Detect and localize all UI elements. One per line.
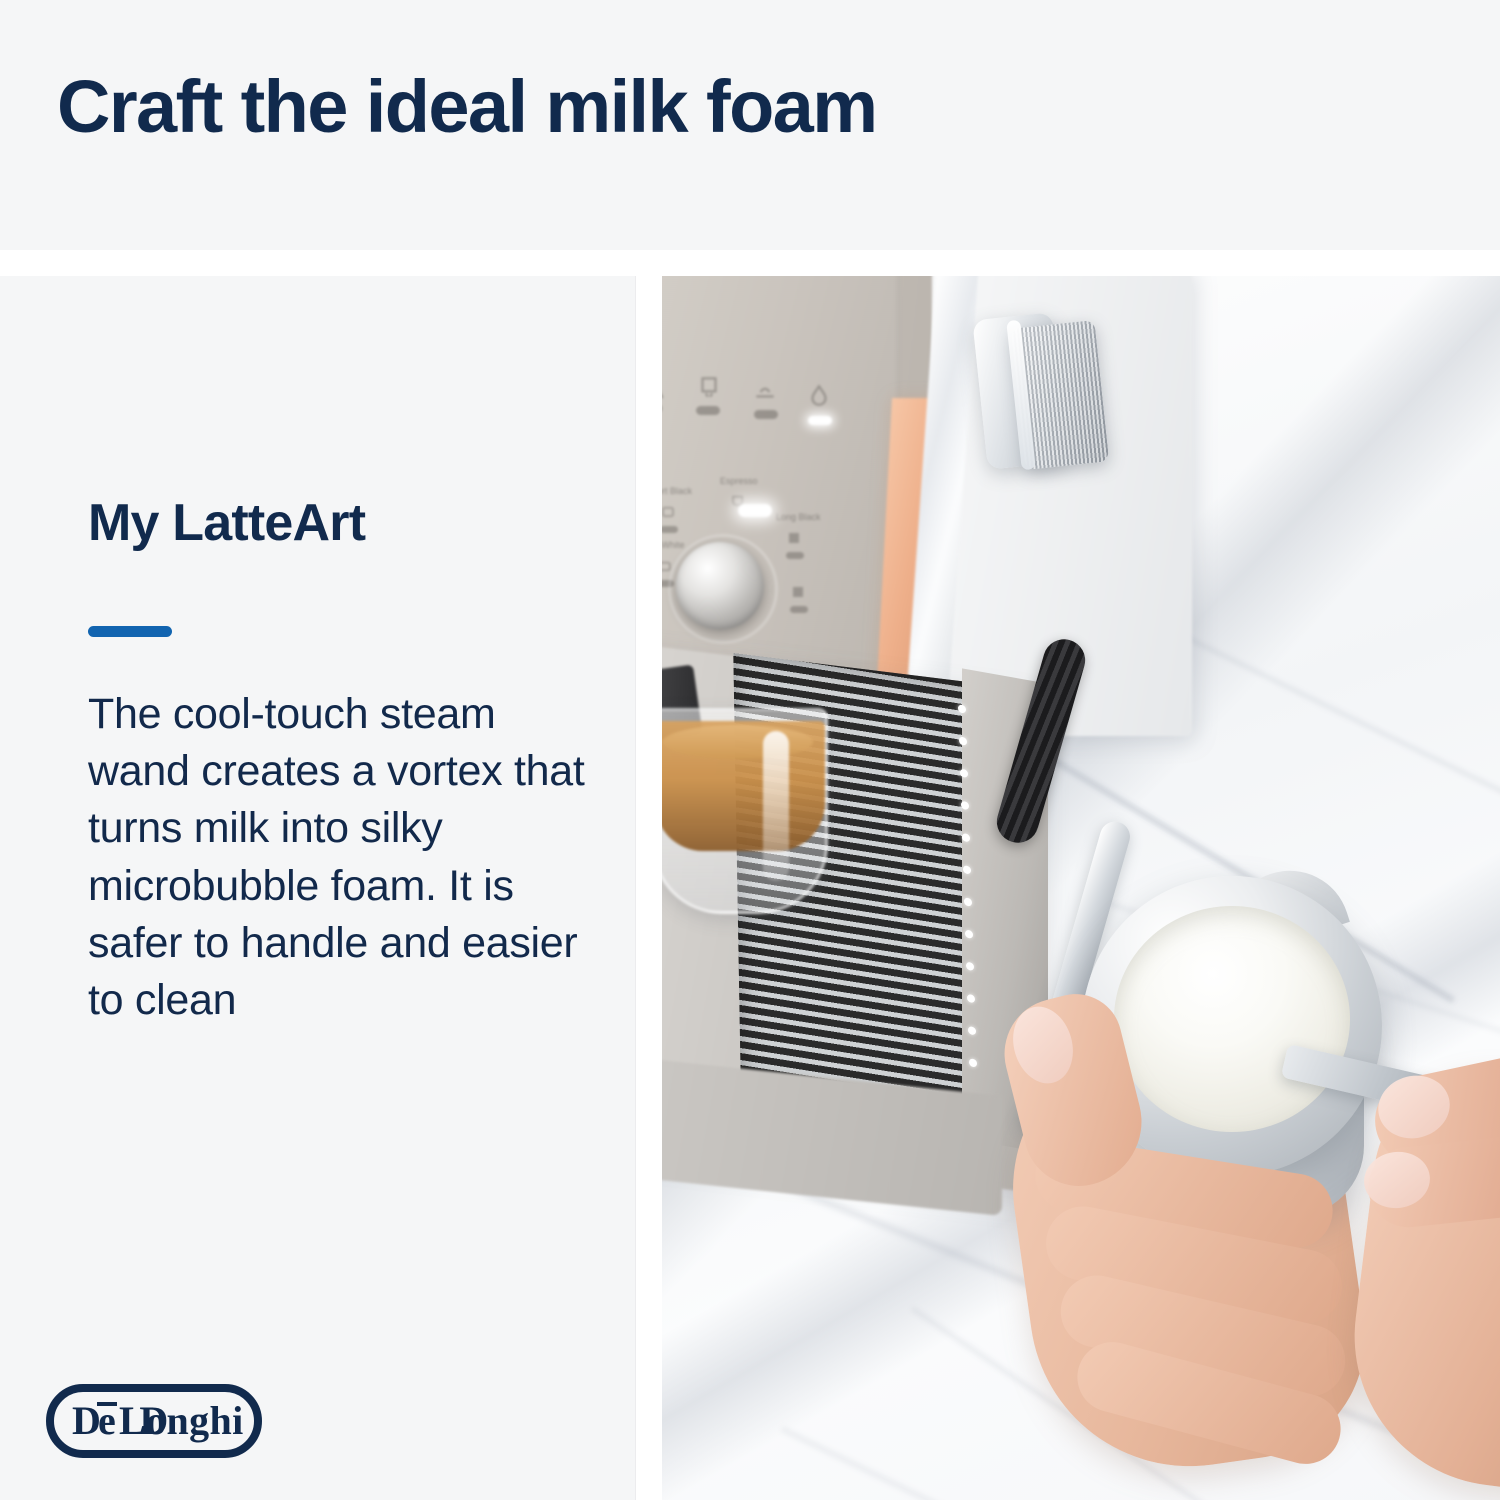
body-copy: The cool-touch steam wand creates a vort… bbox=[88, 686, 593, 1029]
header-band: Craft the ideal milk foam bbox=[0, 0, 1500, 250]
crema-surface bbox=[663, 725, 813, 759]
glass-highlight bbox=[763, 731, 789, 881]
power-warning-icon bbox=[662, 374, 664, 400]
water-drop-icon bbox=[806, 382, 832, 408]
delonghi-logo: D x D e Longhi bbox=[46, 1384, 262, 1458]
grill-rivet-row bbox=[958, 704, 978, 1128]
panel-label-long-black: Long Black bbox=[776, 512, 821, 522]
panel-label-flat-white: Flat White bbox=[662, 540, 685, 550]
descale-icon bbox=[696, 374, 722, 400]
espresso-glass bbox=[662, 708, 828, 914]
panel-label-short-black: Short Black bbox=[662, 486, 692, 496]
svg-text:Longhi: Longhi bbox=[119, 1398, 244, 1443]
indicator-led-active bbox=[808, 416, 832, 425]
panel-label-espresso: Espresso bbox=[720, 476, 758, 486]
frothed-milk bbox=[1114, 906, 1350, 1132]
control-panel: Short Black Flat White Espresso Long Bla… bbox=[662, 276, 900, 664]
accent-rule-divider bbox=[88, 626, 172, 637]
product-photo: Short Black Flat White Espresso Long Bla… bbox=[662, 276, 1500, 1500]
dial-active-led bbox=[738, 504, 772, 517]
steam-icon bbox=[752, 378, 778, 404]
indicator-led bbox=[754, 410, 778, 419]
preset-led bbox=[790, 606, 808, 613]
indicator-icon-row bbox=[662, 374, 836, 444]
long-black-cup-icon bbox=[784, 528, 804, 548]
svg-text:D: D bbox=[72, 1398, 101, 1443]
indicator-led bbox=[696, 406, 720, 415]
preset-led bbox=[786, 552, 804, 559]
page-title: Craft the ideal milk foam bbox=[57, 70, 876, 144]
preset-led bbox=[662, 526, 678, 533]
short-black-cup-icon bbox=[662, 502, 678, 522]
section-title: My LatteArt bbox=[88, 496, 365, 551]
milk-preset-icon bbox=[788, 582, 808, 602]
promo-card: Craft the ideal milk foam My LatteArt Th… bbox=[0, 0, 1500, 1500]
control-dial[interactable] bbox=[676, 542, 764, 630]
